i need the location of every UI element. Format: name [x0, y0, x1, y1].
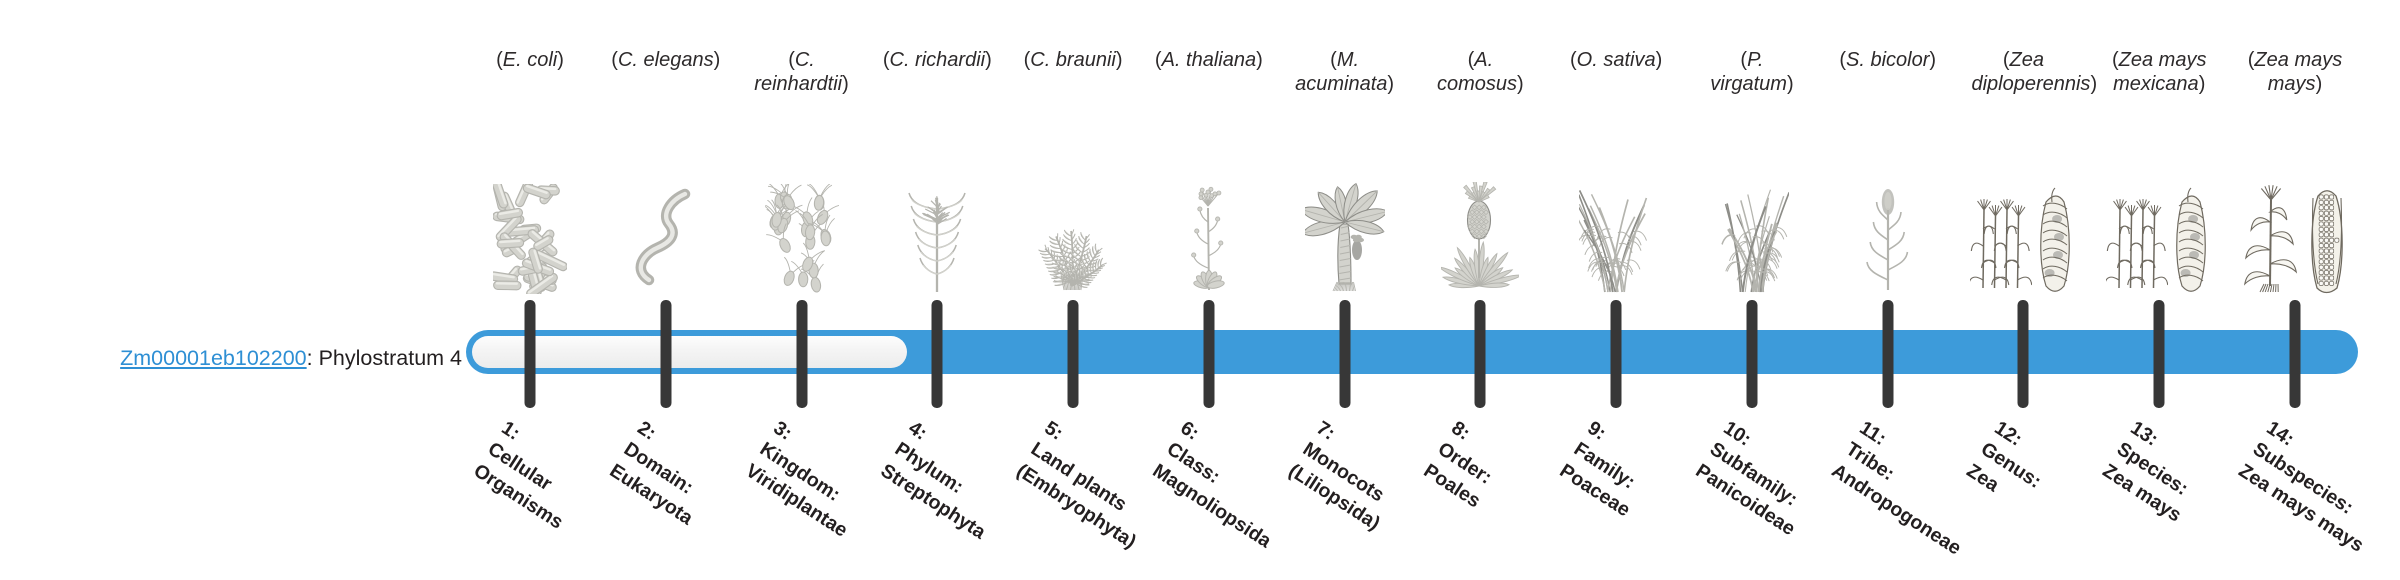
timeline-tick-7[interactable] — [1339, 300, 1350, 408]
species-latin-name: (Zea diploperennis) — [1971, 48, 2075, 96]
species-latin-name: (O. sativa) — [1541, 48, 1691, 72]
timeline-tick-6[interactable] — [1203, 300, 1214, 408]
species-latin-binomial: C. reinhardtii — [754, 49, 842, 95]
species-header-maize-14: (Zea mays mays) — [2220, 38, 2370, 96]
species-header-stonewort-4: (C. richardii) — [862, 38, 1012, 72]
algae-cells-icon — [765, 168, 839, 294]
timeline-tick-12[interactable] — [2018, 300, 2029, 408]
species-latin-binomial: E. coli — [503, 49, 557, 71]
timeline-tick-13[interactable] — [2154, 300, 2165, 408]
timeline-tick-1[interactable] — [525, 300, 536, 408]
nematode-worm-icon — [629, 168, 703, 294]
species-latin-name: (C. braunii) — [998, 48, 1148, 72]
bacteria-rods-icon — [493, 168, 567, 294]
species-header-teosinte-13: (Zea mays mexicana) — [2084, 38, 2234, 96]
species-header-banana-7: (M. acuminata) — [1293, 38, 1397, 96]
timeline-tick-9[interactable] — [1611, 300, 1622, 408]
species-latin-name: (A. thaliana) — [1134, 48, 1284, 72]
species-latin-binomial: Zea diploperennis — [1971, 49, 2090, 95]
species-latin-binomial: S. bicolor — [1846, 49, 1929, 71]
timeline-tick-3[interactable] — [796, 300, 807, 408]
timeline-tick-8[interactable] — [1475, 300, 1486, 408]
species-latin-binomial: Zea mays mexicana — [2113, 49, 2206, 95]
species-latin-name: (P. virgatum) — [1700, 48, 1804, 96]
species-latin-binomial: A. thaliana — [1162, 49, 1257, 71]
species-latin-name: (C. elegans) — [591, 48, 741, 72]
timeline-tick-5[interactable] — [1068, 300, 1079, 408]
species-latin-binomial: M. acuminata — [1295, 49, 1387, 95]
species-header-bacteria-1: (E. coli) — [455, 38, 605, 72]
species-latin-binomial: O. sativa — [1577, 49, 1656, 71]
species-header-switchgrass-10: (P. virgatum) — [1700, 38, 1804, 96]
species-header-worm-2: (C. elegans) — [591, 38, 741, 72]
species-latin-name: (C. reinhardtii) — [750, 48, 854, 96]
timeline-tick-14[interactable] — [2290, 300, 2301, 408]
species-header-fern-5: (C. braunii) — [998, 38, 1148, 72]
species-latin-binomial: Zea mays mays — [2254, 49, 2342, 95]
species-latin-name: (S. bicolor) — [1813, 48, 1963, 72]
teosinte-plant-ear-icon — [2106, 168, 2212, 294]
fern-frond-icon — [1034, 168, 1112, 294]
rice-grass-icon — [1579, 168, 1653, 294]
species-latin-name: (A. comosus) — [1428, 48, 1532, 96]
species-latin-binomial: A. comosus — [1437, 49, 1517, 95]
species-latin-binomial: C. braunii — [1030, 49, 1116, 71]
species-latin-name: (Zea mays mays) — [2220, 48, 2370, 96]
species-latin-binomial: P. virgatum — [1710, 49, 1787, 95]
species-latin-name: (Zea mays mexicana) — [2084, 48, 2234, 96]
timeline-tick-11[interactable] — [1882, 300, 1893, 408]
maize-plant-ear-icon — [2240, 168, 2350, 294]
species-header-pineapple-8: (A. comosus) — [1428, 38, 1532, 96]
species-header-teosinte-12: (Zea diploperennis) — [1971, 38, 2075, 96]
banana-tree-icon — [1305, 168, 1385, 294]
arabidopsis-plant-icon — [1172, 168, 1246, 294]
species-latin-name: (E. coli) — [455, 48, 605, 72]
species-latin-name: (C. richardii) — [862, 48, 1012, 72]
species-header-algae-3: (C. reinhardtii) — [750, 38, 854, 96]
pineapple-plant-icon — [1441, 168, 1519, 294]
timeline-tick-10[interactable] — [1746, 300, 1757, 408]
sorghum-plant-icon — [1851, 168, 1925, 294]
teosinte-plant-ear-icon — [1970, 168, 2076, 294]
stonewort-plant-icon — [900, 168, 974, 294]
species-header-sorghum-11: (S. bicolor) — [1813, 38, 1963, 72]
timeline-tick-2[interactable] — [660, 300, 671, 408]
species-header-arabidopsis-6: (A. thaliana) — [1134, 38, 1284, 72]
species-header-rice-9: (O. sativa) — [1541, 38, 1691, 72]
species-latin-name: (M. acuminata) — [1293, 48, 1397, 96]
species-latin-binomial: C. richardii — [890, 49, 986, 71]
species-latin-binomial: C. elegans — [618, 49, 714, 71]
timeline-unfilled-region — [472, 336, 907, 368]
switchgrass-icon — [1715, 168, 1789, 294]
timeline-tick-4[interactable] — [932, 300, 943, 408]
